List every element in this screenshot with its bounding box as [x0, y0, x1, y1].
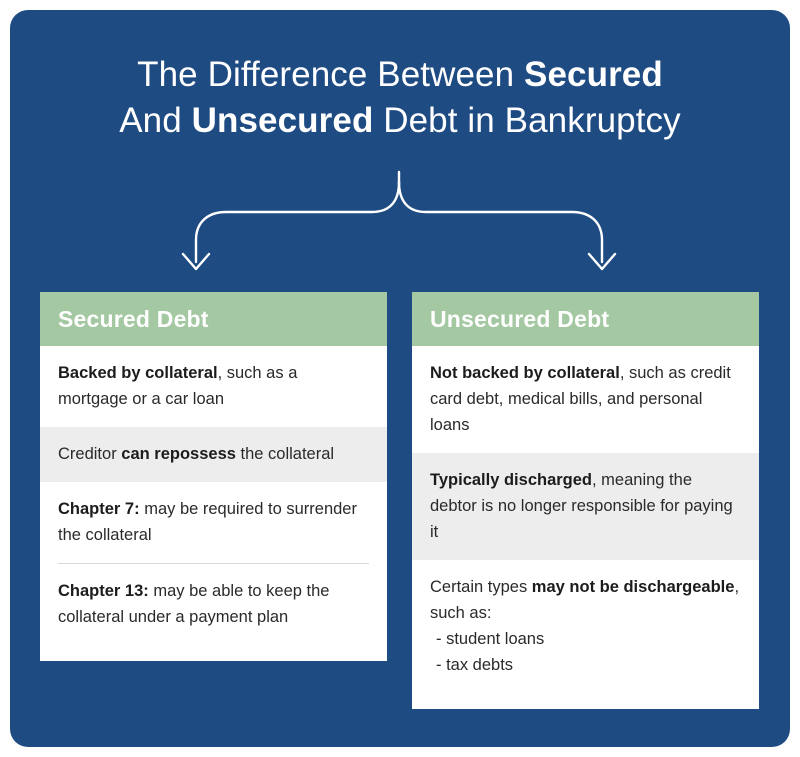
- card-header-secured: Secured Debt: [40, 292, 387, 346]
- row-lead: Creditor: [58, 445, 121, 463]
- list-item: Typically discharged, meaning the debtor…: [412, 453, 759, 560]
- card-body-secured: Backed by collateral, such as a mortgage…: [40, 346, 387, 661]
- infographic-root: The Difference Between Secured And Unsec…: [0, 0, 800, 757]
- title-bold-secured: Secured: [524, 55, 663, 94]
- row-bold: Chapter 13:: [58, 582, 149, 600]
- list-item: Certain types may not be dischargeable, …: [412, 560, 759, 693]
- card-unsecured-debt: Unsecured Debt Not backed by collateral,…: [412, 292, 759, 709]
- row-bold: may not be dischargeable: [532, 578, 735, 596]
- title-text-3: Debt in Bankruptcy: [373, 101, 680, 140]
- title-bold-unsecured: Unsecured: [192, 101, 374, 140]
- card-header-unsecured: Unsecured Debt: [412, 292, 759, 346]
- title-line-1: The Difference Between Secured: [10, 52, 790, 98]
- page-title: The Difference Between Secured And Unsec…: [10, 52, 790, 144]
- row-bold: Chapter 7:: [58, 500, 140, 518]
- sub-item-tax-debts: - tax debts: [430, 652, 741, 678]
- list-item: Chapter 13: may be able to keep the coll…: [40, 564, 387, 645]
- list-item: Not backed by collateral, such as credit…: [412, 346, 759, 453]
- card-body-unsecured: Not backed by collateral, such as credit…: [412, 346, 759, 709]
- card-bottom-pad: [412, 693, 759, 709]
- row-bold: can repossess: [121, 445, 236, 463]
- title-text-2: And: [119, 101, 191, 140]
- row-bold: Typically discharged: [430, 471, 592, 489]
- row-lead: Certain types: [430, 578, 532, 596]
- list-item: Creditor can repossess the collateral: [40, 427, 387, 482]
- sub-item-student-loans: - student loans: [430, 626, 741, 652]
- curly-brace-split-arrows-icon: [10, 170, 790, 290]
- row-rest: the collateral: [236, 445, 334, 463]
- list-item: Chapter 7: may be required to surrender …: [40, 482, 387, 563]
- row-bold: Backed by collateral: [58, 364, 218, 382]
- card-bottom-pad: [40, 645, 387, 661]
- title-text-1: The Difference Between: [137, 55, 524, 94]
- row-bold: Not backed by collateral: [430, 364, 620, 382]
- split-arrow-connector: [10, 170, 790, 290]
- blue-panel: The Difference Between Secured And Unsec…: [10, 10, 790, 747]
- list-item: Backed by collateral, such as a mortgage…: [40, 346, 387, 427]
- comparison-columns: Secured Debt Backed by collateral, such …: [40, 292, 760, 709]
- card-secured-debt: Secured Debt Backed by collateral, such …: [40, 292, 387, 661]
- title-line-2: And Unsecured Debt in Bankruptcy: [10, 98, 790, 144]
